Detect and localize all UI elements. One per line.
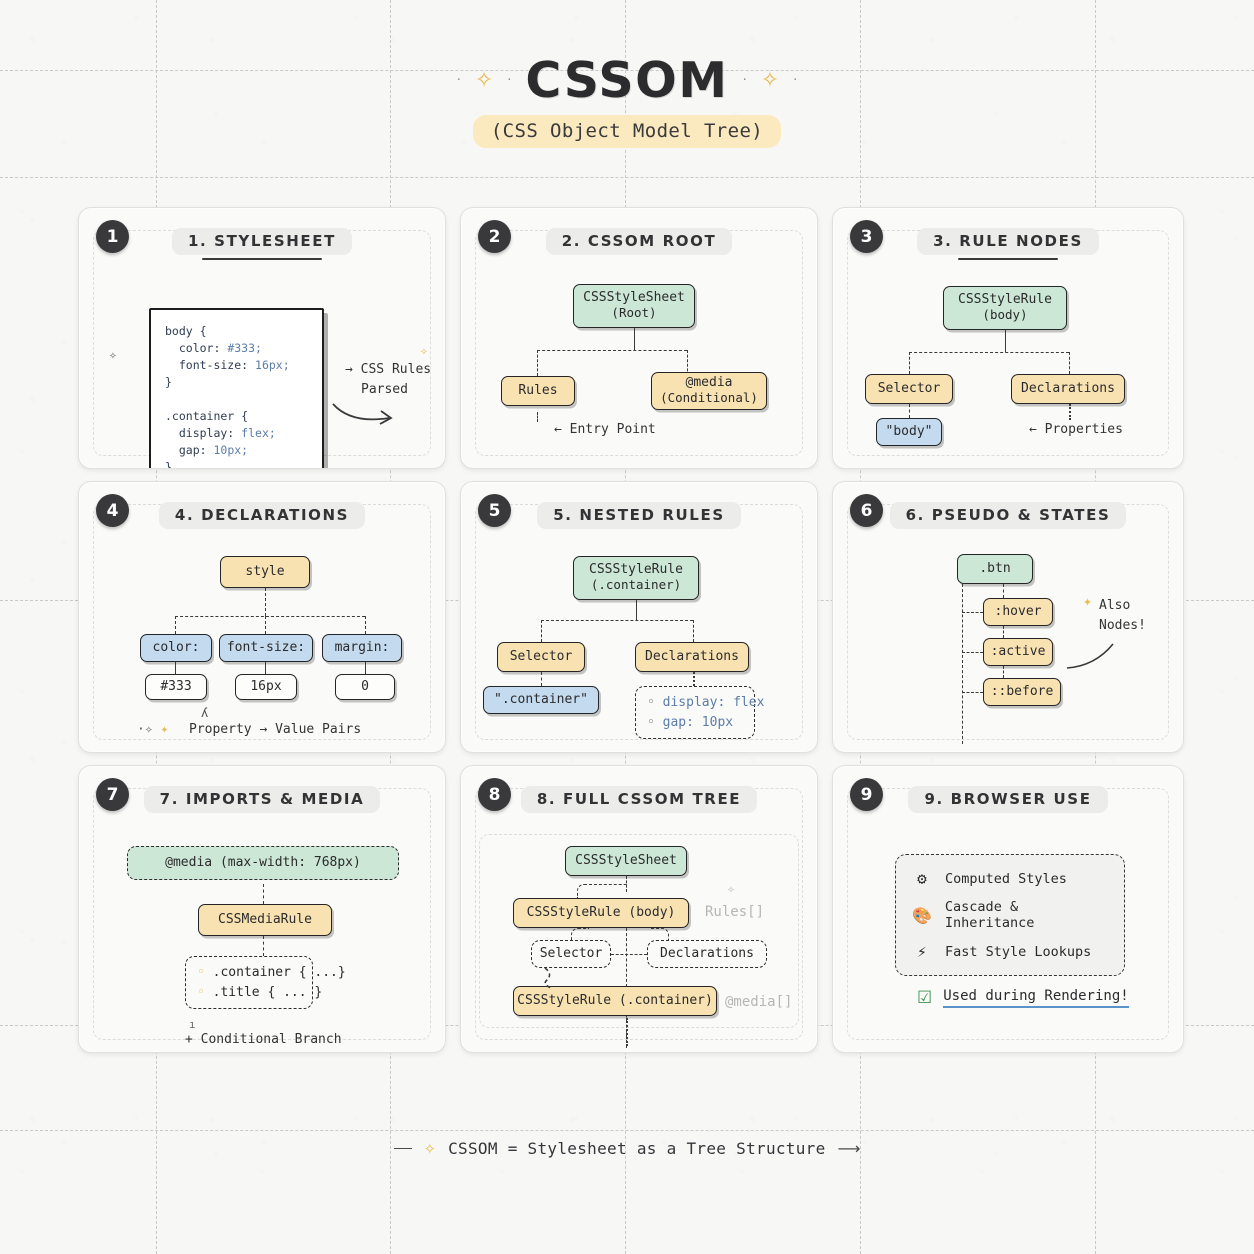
media-child-item: ◦ .title { ... } xyxy=(197,983,301,1003)
curve-pointer-icon xyxy=(1065,638,1121,674)
sparkle-icon: ✧ xyxy=(420,344,428,359)
panel-browser-use: 9 9. BROWSER USE ⚙ Computed Styles 🎨 Cas… xyxy=(832,765,1184,1053)
page-header: · ✧ · CSSOM · ✧ · (CSS Object Model Tree… xyxy=(0,0,1254,200)
node-at-media[interactable]: @media (Conditional) xyxy=(651,372,767,410)
panel-rule-nodes: 3 3. RULE NODES CSSStyleRule (body) Sele… xyxy=(832,207,1184,469)
panel-declarations: 4 4. DECLARATIONS style color: font-size… xyxy=(78,481,446,753)
use-item-label: Computed Styles xyxy=(945,871,1067,887)
node-prop-font-size[interactable]: font-size: xyxy=(219,634,313,662)
connector-bus xyxy=(175,616,365,617)
code-block: body { color: #333; font-size: 16px; } .… xyxy=(165,323,322,469)
connector-left xyxy=(541,620,542,642)
node-body-selector[interactable]: "body" xyxy=(876,418,942,446)
connector-1 xyxy=(263,884,264,904)
connector-left xyxy=(537,350,538,376)
palette-icon: 🎨 xyxy=(912,906,932,925)
panel-body: ⚙ Computed Styles 🎨 Cascade & Inheritanc… xyxy=(833,828,1183,1042)
title-row: · ✧ · CSSOM · ✧ · xyxy=(457,52,798,109)
node-cssstylerule-container[interactable]: CSSStyleRule (.container) xyxy=(573,556,699,600)
connector-b3 xyxy=(365,616,366,634)
connector-b2 xyxy=(265,616,266,634)
node-selector[interactable]: Selector xyxy=(531,940,611,968)
panel-title: 9. BROWSER USE xyxy=(908,786,1107,813)
panel-title: 2. CSSOM ROOT xyxy=(546,228,733,255)
panel-title-wrap: 6. PSEUDO & STATES xyxy=(833,502,1183,529)
node-cssstylesheet[interactable]: CSSStyleSheet (Root) xyxy=(573,284,695,328)
use-item-lookups: ⚡ Fast Style Lookups xyxy=(912,942,1108,961)
page-title: CSSOM xyxy=(525,52,728,109)
panel-body: CSSStyleRule (.container) Selector Decla… xyxy=(461,544,817,742)
node-media-query[interactable]: @media (max-width: 768px) xyxy=(127,846,399,880)
panel-title-wrap: 1. STYLESHEET xyxy=(79,228,445,260)
panel-title: 8. FULL CSSOM TREE xyxy=(521,786,757,813)
node-declarations[interactable]: Declarations xyxy=(1011,374,1125,404)
panel-title: 5. NESTED RULES xyxy=(537,502,740,529)
sparkle-icon-small: ✧ xyxy=(109,348,117,363)
code-card: body { color: #333; font-size: 16px; } .… xyxy=(149,308,324,469)
connector-v3 xyxy=(365,662,366,674)
use-item-cascade: 🎨 Cascade & Inheritance xyxy=(912,899,1108,931)
declaration-list: ◦ display: flex ◦ gap: 10px xyxy=(635,686,755,739)
node-prop-color[interactable]: color: xyxy=(140,634,212,662)
note-entry-point: ← Entry Point xyxy=(554,422,656,437)
panel-number-badge: 1 xyxy=(96,220,129,253)
panel-title: 1. STYLESHEET xyxy=(172,228,352,255)
connector-right xyxy=(693,620,694,642)
panel-pseudo-states: 6 6. PSEUDO & STATES .btn :hover :active… xyxy=(832,481,1184,753)
note-nodes: Nodes! xyxy=(1099,618,1146,633)
panel-number-badge: 8 xyxy=(478,778,511,811)
bullet-icon: ◦ xyxy=(197,965,205,980)
connector-v1 xyxy=(175,662,176,674)
connector-low xyxy=(1003,666,1004,678)
node-selector[interactable]: Selector xyxy=(865,374,953,404)
panel-body: .btn :hover :active ::before ✦ Also Node… xyxy=(833,544,1183,742)
connector-bus xyxy=(541,620,693,621)
use-item-label: Fast Style Lookups xyxy=(945,944,1091,960)
sparkle-icon: ✦ xyxy=(1083,592,1092,610)
panel-number-badge: 2 xyxy=(478,220,511,253)
node-rule-container[interactable]: CSSStyleRule (.container) xyxy=(513,986,717,1016)
panel-number-badge: 4 xyxy=(96,494,129,527)
media-child-item: ◦ .container { ...} xyxy=(197,963,301,983)
title-underline xyxy=(202,258,322,260)
caret-icon: ʎ xyxy=(201,706,208,720)
bullet-icon: ◦ xyxy=(197,985,205,1000)
arrow-right-icon: ⟶ xyxy=(838,1139,861,1158)
panel-number-badge: 6 xyxy=(850,494,883,527)
node-declarations[interactable]: Declarations xyxy=(635,642,749,672)
panel-title-wrap: 9. BROWSER USE xyxy=(833,786,1183,813)
gear-icon: ⚙ xyxy=(912,869,932,888)
connector-h1 xyxy=(962,612,983,613)
panel-title: 7. IMPORTS & MEDIA xyxy=(144,786,381,813)
panel-number-badge: 5 xyxy=(478,494,511,527)
declaration-item: ◦ display: flex xyxy=(647,693,743,713)
connector-left xyxy=(909,352,910,374)
use-item-label: Cascade & Inheritance xyxy=(945,899,1108,931)
connector-corner xyxy=(577,884,627,898)
node-hover[interactable]: :hover xyxy=(983,598,1053,626)
node-cssstylerule[interactable]: CSSStyleRule (body) xyxy=(943,286,1067,330)
connector-spine xyxy=(962,584,963,744)
panel-nested-rules: 5 5. NESTED RULES CSSStyleRule (.contain… xyxy=(460,481,818,753)
connector-mid xyxy=(1003,626,1004,638)
node-before[interactable]: ::before xyxy=(983,678,1061,706)
node-selector[interactable]: Selector xyxy=(497,642,585,672)
sparkle-icon: ✧ xyxy=(727,882,735,897)
panel-stylesheet: 1 1. STYLESHEET body { color: #333; font… xyxy=(78,207,446,469)
connector-bus xyxy=(909,352,1069,353)
connector-tail-dots xyxy=(626,1018,628,1046)
connector-trunk xyxy=(636,600,637,620)
lightning-icon: ⚡ xyxy=(912,942,932,961)
declaration-item: ◦ gap: 10px xyxy=(647,713,743,733)
title-dot-right: · xyxy=(743,73,747,88)
panel-full-cssom-tree: 8 8. FULL CSSOM TREE CSSStyleSheet CSSSt… xyxy=(460,765,818,1053)
connector-leaf xyxy=(541,672,542,686)
tick-icon: ı xyxy=(189,1018,196,1031)
footer-line-left xyxy=(394,1148,412,1149)
caption-property-value: Property → Value Pairs xyxy=(189,722,361,737)
use-item-computed-styles: ⚙ Computed Styles xyxy=(912,869,1108,888)
sparkle-icon-footer: ✧ xyxy=(424,1140,437,1158)
panel-title-wrap: 5. NESTED RULES xyxy=(461,502,817,529)
panel-title: 4. DECLARATIONS xyxy=(159,502,365,529)
footer-text: CSSOM = Stylesheet as a Tree Structure xyxy=(448,1139,825,1158)
note-properties: ← Properties xyxy=(1029,422,1123,437)
connector-v2 xyxy=(265,662,266,674)
title-dot-right2: · xyxy=(793,73,797,88)
panel-title-wrap: 7. IMPORTS & MEDIA xyxy=(79,786,445,813)
node-cssmediarule[interactable]: CSSMediaRule xyxy=(198,904,332,936)
browser-use-list: ⚙ Computed Styles 🎨 Cascade & Inheritanc… xyxy=(895,854,1125,976)
checkbox-checked-icon: ☑ xyxy=(917,988,932,1008)
node-rule-body[interactable]: CSSStyleRule (body) xyxy=(513,898,689,928)
connector-corner-decl xyxy=(651,928,669,940)
node-rules[interactable]: Rules xyxy=(501,376,575,406)
label-rules-array: Rules[] xyxy=(705,904,764,920)
bullet-icon: ◦ xyxy=(647,715,655,730)
connector-corner-sel xyxy=(571,928,589,940)
caption-conditional-branch: + Conditional Branch xyxy=(185,1032,342,1047)
bullet-icon: ◦ xyxy=(647,695,655,710)
note-parsed: Parsed xyxy=(361,382,408,397)
page-subtitle: (CSS Object Model Tree) xyxy=(473,115,781,148)
used-during-rendering-row: ☑ Used during Rendering! xyxy=(917,988,1129,1008)
connector-top xyxy=(1003,584,1004,598)
node-style[interactable]: style xyxy=(220,556,310,588)
panel-body: CSSStyleSheet CSSStyleRule (body) Rules[… xyxy=(461,828,817,1042)
curved-arrow-icon xyxy=(329,398,399,432)
connector-trunk xyxy=(634,328,635,350)
note-css-rules: → CSS Rules xyxy=(345,362,431,377)
node-declarations[interactable]: Declarations xyxy=(647,940,767,968)
panel-imports-media: 7 7. IMPORTS & MEDIA @media (max-width: … xyxy=(78,765,446,1053)
node-container-selector[interactable]: ".container" xyxy=(483,686,599,714)
panel-grid: 1 1. STYLESHEET body { color: #333; font… xyxy=(78,207,1176,1053)
panel-body: style color: font-size: margin: #333 16p… xyxy=(79,544,445,742)
node-cssstylesheet[interactable]: CSSStyleSheet xyxy=(565,846,687,876)
connector-sel-decl xyxy=(611,954,647,955)
sparkle-icon-right: ✧ xyxy=(761,70,779,92)
node-btn[interactable]: .btn xyxy=(957,554,1033,584)
note-also: Also xyxy=(1099,598,1130,613)
panel-title-wrap: 8. FULL CSSOM TREE xyxy=(461,786,817,813)
title-underline xyxy=(958,258,1058,260)
label-media-array: @media[] xyxy=(725,994,792,1010)
node-active[interactable]: :active xyxy=(983,638,1053,666)
connector-2 xyxy=(263,936,264,956)
media-children-list: ◦ .container { ...} ◦ .title { ... } xyxy=(185,956,313,1009)
panel-title-wrap: 4. DECLARATIONS xyxy=(79,502,445,529)
caption-marks: ·✧ ✦ xyxy=(137,722,168,737)
node-prop-margin[interactable]: margin: xyxy=(322,634,402,662)
panel-body: CSSStyleRule (body) Selector Declaration… xyxy=(833,270,1183,458)
connector-trunk xyxy=(1005,330,1006,352)
connector-entry xyxy=(537,412,538,422)
connector-b1 xyxy=(175,616,176,634)
panel-title-wrap: 2. CSSOM ROOT xyxy=(461,228,817,255)
title-dot-left: · xyxy=(457,73,461,88)
connector-h3 xyxy=(962,692,983,693)
panel-number-badge: 9 xyxy=(850,778,883,811)
panel-number-badge: 3 xyxy=(850,220,883,253)
panel-title-wrap: 3. RULE NODES xyxy=(833,228,1183,260)
connector-decl xyxy=(693,672,695,686)
connector-h2 xyxy=(962,652,983,653)
node-value-16px[interactable]: 16px xyxy=(235,674,297,700)
title-dot-left2: · xyxy=(507,73,511,88)
panel-body: CSSStyleSheet (Root) Rules @media (Condi… xyxy=(461,270,817,458)
panel-title: 6. PSEUDO & STATES xyxy=(890,502,1127,529)
node-value-333[interactable]: #333 xyxy=(145,674,207,700)
panel-number-badge: 7 xyxy=(96,778,129,811)
connector-leaf xyxy=(909,404,910,418)
panel-cssom-root: 2 2. CSSOM ROOT CSSStyleSheet (Root) Rul… xyxy=(460,207,818,469)
connector-right xyxy=(1069,352,1070,374)
node-value-0[interactable]: 0 xyxy=(335,674,395,700)
panel-body: body { color: #333; font-size: 16px; } .… xyxy=(79,270,445,458)
used-during-rendering-label: Used during Rendering! xyxy=(943,988,1128,1008)
connector-trunk xyxy=(265,588,266,616)
sparkle-icon-left: ✧ xyxy=(475,70,493,92)
connector-bus xyxy=(537,350,687,351)
page-footer: ✧ CSSOM = Stylesheet as a Tree Structure… xyxy=(0,1139,1254,1158)
connector-properties xyxy=(1069,404,1071,420)
panel-body: @media (max-width: 768px) CSSMediaRule ◦… xyxy=(79,828,445,1042)
squiggle-connector-icon xyxy=(539,966,569,990)
panel-title: 3. RULE NODES xyxy=(917,228,1099,255)
